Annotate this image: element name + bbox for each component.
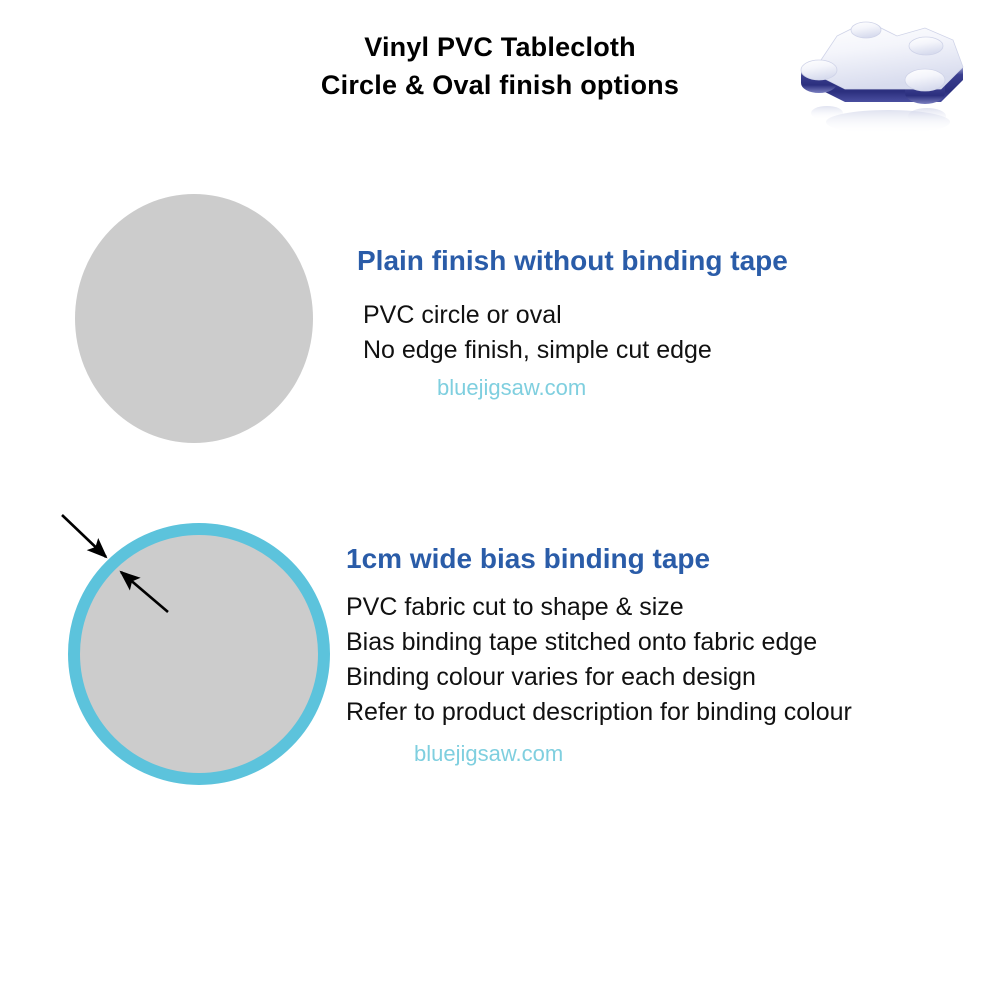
section-plain-body: PVC circle or oval No edge finish, simpl… [357,298,788,368]
section-binding-body-line-1: PVC fabric cut to shape & size [346,590,852,625]
section-binding-body-line-4: Refer to product description for binding… [346,695,852,730]
annotation-arrows [0,0,1000,1000]
bound-pvc-circle [68,523,330,785]
section-binding-heading: 1cm wide bias binding tape [346,542,852,576]
section-plain-body-line-1: PVC circle or oval [357,298,788,333]
logo-reflection [811,106,950,134]
section-plain-watermark: bluejigsaw.com [357,372,788,404]
bluejigsaw-puzzle-piece-logo [793,18,983,143]
section-plain-body-line-2: No edge finish, simple cut edge [357,333,788,368]
plain-pvc-circle [75,194,313,443]
section-plain-finish: Plain finish without binding tape PVC ci… [357,244,788,404]
poster-canvas: Vinyl PVC Tablecloth Circle & Oval finis… [0,0,1000,1000]
section-binding-body: PVC fabric cut to shape & size Bias bind… [346,590,852,730]
arrow-to-binding-tape [62,515,106,557]
section-binding-body-line-3: Binding colour varies for each design [346,660,852,695]
section-binding-body-line-2: Bias binding tape stitched onto fabric e… [346,625,852,660]
section-binding-tape: 1cm wide bias binding tape PVC fabric cu… [346,542,852,770]
section-binding-watermark: bluejigsaw.com [346,738,852,770]
section-plain-heading: Plain finish without binding tape [357,244,788,278]
